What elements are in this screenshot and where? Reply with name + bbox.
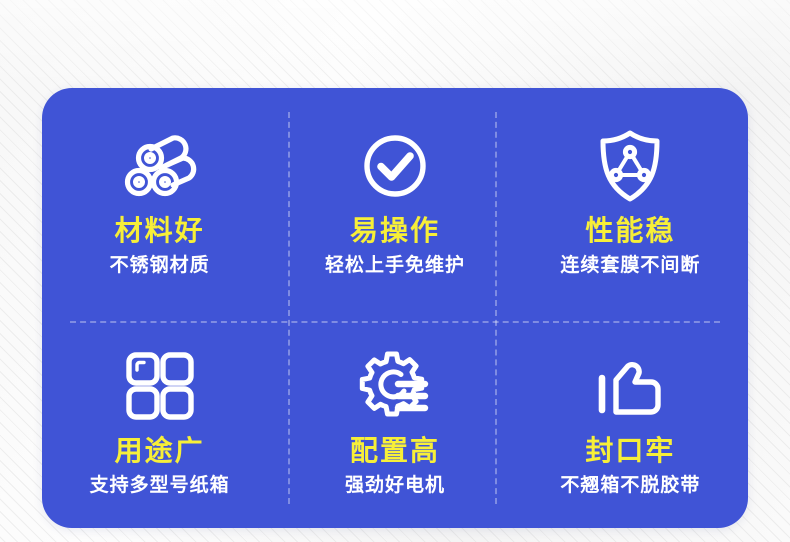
stacked-rolls-icon	[121, 123, 199, 209]
circle-check-icon	[358, 123, 432, 209]
feature-subtitle: 不锈钢材质	[110, 255, 210, 277]
feature-subtitle: 轻松上手免维护	[325, 255, 465, 277]
feature-title: 封口牢	[585, 435, 675, 467]
feature-subtitle: 支持多型号纸箱	[90, 475, 230, 497]
feature-cell-configuration: 配置高 强劲好电机	[277, 308, 512, 528]
grid-squares-icon	[124, 343, 196, 429]
features-grid: 材料好 不锈钢材质 易操作 轻松上手免维护	[42, 88, 748, 528]
thumbs-up-icon	[594, 343, 666, 429]
feature-cell-easy-operation: 易操作 轻松上手免维护	[277, 88, 512, 308]
feature-title: 性能稳	[585, 215, 675, 247]
feature-title: 配置高	[350, 435, 440, 467]
shield-network-icon	[595, 123, 665, 209]
feature-subtitle: 连续套膜不间断	[560, 255, 700, 277]
feature-cell-sealing: 封口牢 不翘箱不脱胶带	[513, 308, 748, 528]
feature-title: 用途广	[115, 435, 205, 467]
feature-subtitle: 强劲好电机	[345, 475, 445, 497]
feature-title: 易操作	[350, 215, 440, 247]
feature-cell-stability: 性能稳 连续套膜不间断	[513, 88, 748, 308]
feature-highlight-banner: 材料好 不锈钢材质 易操作 轻松上手免维护	[0, 0, 790, 542]
feature-title: 材料好	[115, 215, 205, 247]
feature-subtitle: 不翘箱不脱胶带	[560, 475, 700, 497]
gear-settings-icon	[357, 343, 433, 429]
feature-cell-versatility: 用途广 支持多型号纸箱	[42, 308, 277, 528]
features-panel: 材料好 不锈钢材质 易操作 轻松上手免维护	[42, 88, 748, 528]
feature-cell-material: 材料好 不锈钢材质	[42, 88, 277, 308]
